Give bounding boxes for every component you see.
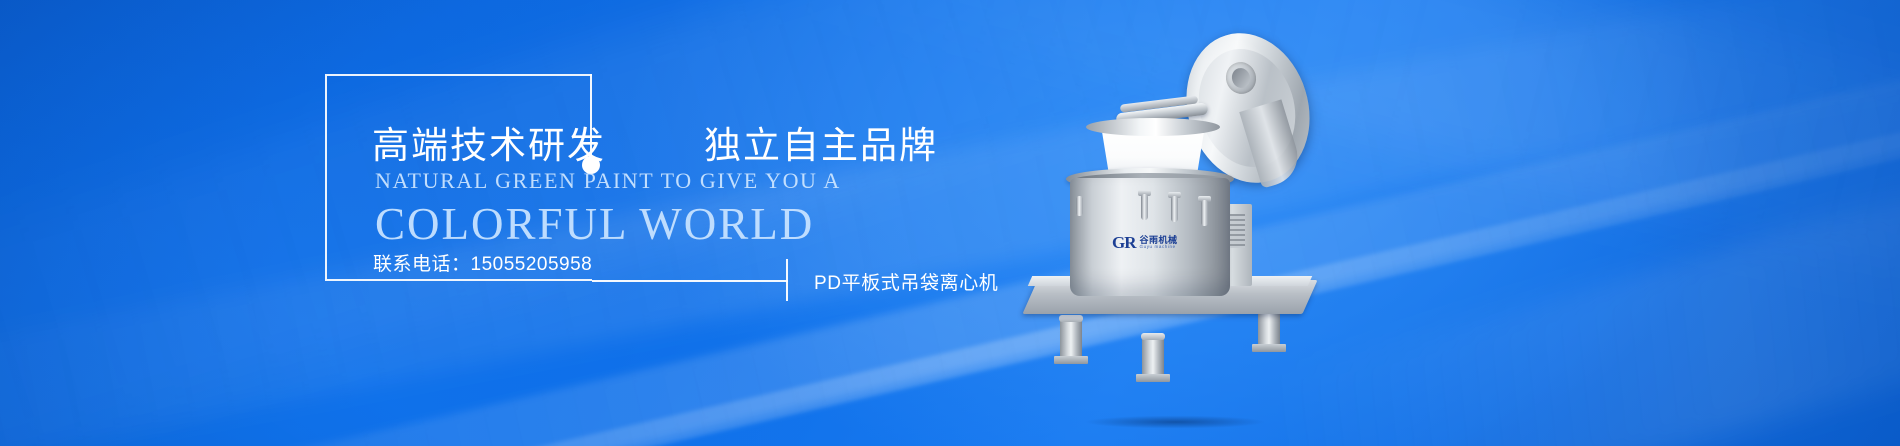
machine-clamp (1201, 200, 1208, 226)
contact-phone[interactable]: 联系电话：15055205958 (373, 249, 592, 276)
headline-part-1: 高端技术研发 (372, 115, 606, 169)
product-caption: PD平板式吊袋离心机 (814, 268, 998, 295)
machine-ground-shadow (1050, 413, 1300, 431)
machine-side-clamp (1076, 196, 1083, 216)
machine-clamp (1171, 196, 1178, 222)
machine-bag-clamp-ring (1086, 118, 1220, 136)
tagline-english: COLORFUL WORLD (375, 198, 814, 250)
machine-foot-cap (1141, 333, 1165, 340)
headline-part-2: 独立自主品牌 (704, 115, 938, 169)
subtitle-english: NATURAL GREEN PAINT TO GIVE YOU A (375, 168, 841, 194)
product-image-centrifuge: GR 谷雨机械 Guyu machine (1020, 18, 1320, 418)
machine-foot (1060, 318, 1082, 358)
logo-name-pinyin: Guyu machine (1140, 245, 1178, 250)
logo-mark-gr: GR (1112, 234, 1136, 251)
machine-foot (1142, 336, 1164, 376)
vignette-overlay (0, 0, 1900, 446)
caption-leader-line-vertical (786, 259, 788, 301)
caption-leader-line-horizontal (592, 280, 788, 282)
machine-brand-logo: GR 谷雨机械 Guyu machine (1112, 234, 1178, 251)
promo-banner: 高端技术研发 独立自主品牌 NATURAL GREEN PAINT TO GIV… (0, 0, 1900, 446)
machine-foot-pad (1136, 374, 1170, 382)
machine-clamp (1141, 194, 1148, 220)
headline: 高端技术研发 独立自主品牌 (372, 115, 938, 169)
machine-foot-cap (1059, 315, 1083, 322)
machine-foot-pad (1252, 344, 1286, 352)
machine-foot-pad (1054, 356, 1088, 364)
